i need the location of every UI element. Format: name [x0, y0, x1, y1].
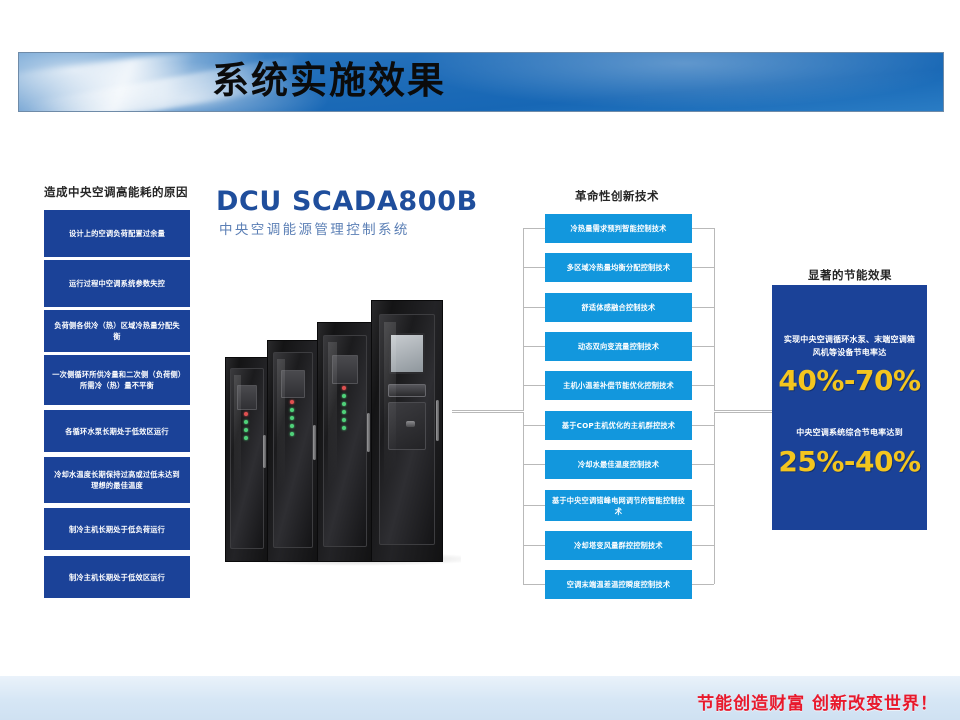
cabinet-knob-icon — [406, 421, 415, 427]
connector-stub-left-10 — [523, 584, 545, 585]
cabinet-4-main — [371, 300, 443, 562]
connector-stub-right-2 — [692, 267, 714, 268]
connector-stub-left-7 — [523, 464, 545, 465]
cabinet-led-stack — [290, 400, 302, 440]
result-value-1: 40%-70% — [772, 364, 927, 397]
led-red-icon — [342, 386, 346, 390]
cause-item-6: 冷却水温度长期保持过高或过低未达到理想的最佳温度 — [44, 457, 190, 503]
connector-main-left-upper — [452, 410, 524, 411]
connector-stub-left-8 — [523, 505, 545, 506]
page-title: 系统实施效果 — [212, 52, 446, 110]
result-text-2: 中央空调系统综合节电率达到 — [780, 426, 919, 439]
connector-stub-left-9 — [523, 545, 545, 546]
connector-stub-left-6 — [523, 425, 545, 426]
cabinet-handle — [263, 435, 266, 467]
led-green-icon — [342, 426, 346, 430]
tech-item-8: 基于中央空调错峰电网调节的智能控制技术 — [545, 490, 692, 521]
led-green-icon — [342, 402, 346, 406]
connector-stub-left-2 — [523, 267, 545, 268]
connector-stub-right-8 — [692, 505, 714, 506]
cabinet-handle — [367, 413, 370, 451]
connector-stub-right-10 — [692, 584, 714, 585]
connector-spine-right-upper — [714, 228, 715, 411]
led-red-icon — [290, 400, 294, 404]
connector-stub-left-4 — [523, 346, 545, 347]
connector-stub-left-5 — [523, 385, 545, 386]
product-name: DCU SCADA800B — [216, 186, 478, 217]
led-green-icon — [244, 428, 248, 432]
control-cabinet-illustration — [225, 262, 465, 562]
connector-stub-right-3 — [692, 307, 714, 308]
connector-main-left-lower — [452, 412, 524, 413]
cabinet-1 — [225, 357, 269, 562]
tech-item-4: 动态双向变流量控制技术 — [545, 332, 692, 361]
cabinet-3 — [317, 322, 373, 562]
led-red-icon — [244, 412, 248, 416]
tech-item-3: 舒适体感融合控制技术 — [545, 293, 692, 322]
connector-main-right-upper — [714, 410, 774, 411]
led-green-icon — [290, 416, 294, 420]
connector-spine-right-lower — [714, 412, 715, 584]
cause-item-3: 负荷侧各供冷（热）区域冷热量分配失衡 — [44, 310, 190, 352]
cabinet-panel — [281, 370, 305, 397]
led-green-icon — [244, 420, 248, 424]
tech-item-9: 冷却塔变风量群控控制技术 — [545, 531, 692, 560]
connector-stub-left-3 — [523, 307, 545, 308]
cause-item-2: 运行过程中空调系统参数失控 — [44, 260, 190, 307]
cabinet-led-stack — [244, 412, 256, 444]
led-green-icon — [290, 424, 294, 428]
led-green-icon — [342, 394, 346, 398]
tech-item-7: 冷却水最佳温度控制技术 — [545, 450, 692, 479]
cabinet-led-stack — [342, 386, 354, 434]
cabinet-2 — [267, 340, 319, 562]
led-green-icon — [290, 432, 294, 436]
cabinet-door — [230, 368, 264, 549]
connector-stub-right-5 — [692, 385, 714, 386]
tech-item-10: 空调末端温差温控瞬度控制技术 — [545, 570, 692, 599]
cabinet-door — [379, 314, 435, 545]
cause-item-1: 设计上的空调负荷配置过余量 — [44, 210, 190, 257]
cabinet-handle — [436, 400, 439, 442]
result-value-2: 25%-40% — [772, 445, 927, 478]
cabinet-door — [273, 352, 313, 548]
cabinet-display-screen[interactable] — [389, 333, 426, 374]
cause-item-4: 一次侧循环所供冷量和二次侧（负荷侧）所需冷（热）量不平衡 — [44, 355, 190, 405]
connector-spine-left-upper — [523, 228, 524, 411]
led-green-icon — [342, 410, 346, 414]
connector-stub-right-9 — [692, 545, 714, 546]
title-banner: 系统实施效果 — [18, 52, 944, 112]
connector-stub-right-7 — [692, 464, 714, 465]
center-column-heading: 革命性创新技术 — [537, 188, 697, 204]
connector-stub-right-1 — [692, 228, 714, 229]
cause-item-7: 制冷主机长期处于低负荷运行 — [44, 508, 190, 550]
tech-item-5: 主机小温差补偿节能优化控制技术 — [545, 371, 692, 400]
cabinet-door — [323, 335, 366, 547]
cause-item-5: 各循环水泵长期处于低效区运行 — [44, 410, 190, 452]
result-text-1: 实现中央空调循环水泵、末端空调箱风机等设备节电率达 — [780, 333, 919, 359]
left-column-heading: 造成中央空调高能耗的原因 — [36, 184, 196, 200]
connector-stub-right-4 — [692, 346, 714, 347]
product-subtitle: 中央空调能源管理控制系统 — [219, 218, 410, 238]
savings-result-panel: 实现中央空调循环水泵、末端空调箱风机等设备节电率达 40%-70% 中央空调系统… — [772, 285, 927, 530]
cabinet-vent-slot — [388, 384, 427, 397]
led-green-icon — [290, 408, 294, 412]
led-green-icon — [244, 436, 248, 440]
connector-main-right-lower — [714, 412, 774, 413]
tech-item-2: 多区域冷热量均衡分配控制技术 — [545, 253, 692, 282]
cabinet-panel — [332, 355, 358, 384]
footer-slogan: 节能创造财富 创新改变世界！ — [697, 689, 938, 714]
right-column-heading: 显著的节能效果 — [775, 267, 925, 283]
footer-bar: 节能创造财富 创新改变世界！ — [0, 676, 960, 720]
led-green-icon — [342, 418, 346, 422]
connector-spine-left-lower — [523, 412, 524, 584]
tech-item-6: 基于COP主机优化的主机群控技术 — [545, 411, 692, 440]
cabinet-panel — [237, 385, 257, 410]
connector-stub-right-6 — [692, 425, 714, 426]
connector-stub-left-1 — [523, 228, 545, 229]
tech-item-1: 冷热量需求预判智能控制技术 — [545, 214, 692, 243]
cabinet-handle — [313, 425, 316, 460]
cause-item-8: 制冷主机长期处于低效区运行 — [44, 556, 190, 598]
